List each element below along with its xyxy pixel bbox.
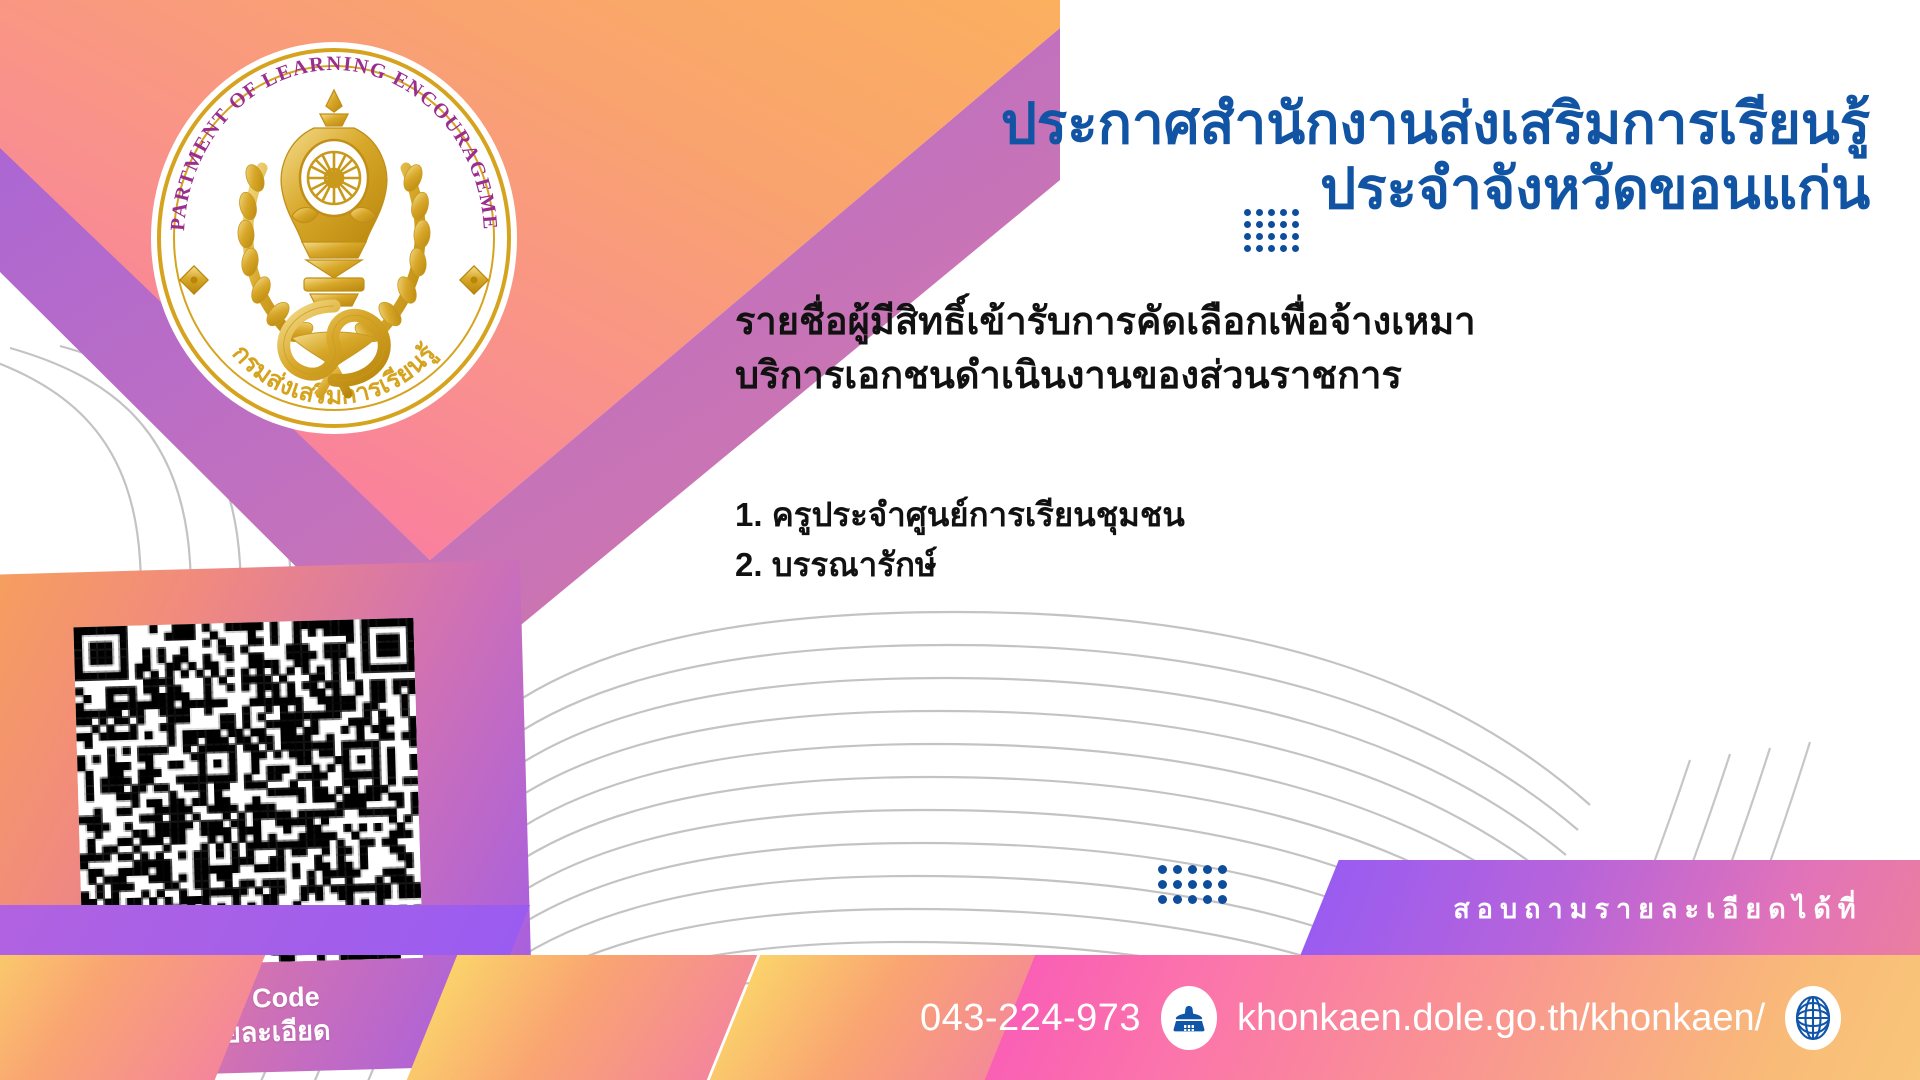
subheadline-line-2: บริการเอกชนดำเนินงานของส่วนราชการ <box>735 350 1865 404</box>
footer-contact-row: 043-224-973 khonkaen.dole.go.th/khonkaen… <box>920 974 1910 1062</box>
website-url[interactable]: khonkaen.dole.go.th/khonkaen/ <box>1237 997 1765 1040</box>
bottom-strip-purple <box>0 905 530 955</box>
phone-number[interactable]: 043-224-973 <box>920 997 1141 1040</box>
contact-ribbon-label: สอบถามรายละเอียดได้ที่ <box>1358 860 1920 956</box>
telephone-icon <box>1161 986 1217 1050</box>
list-item: 1. ครูประจำศูนย์การเรียนชุมชน <box>735 490 1865 540</box>
headline-line-2-row: ประจำจังหวัดขอนแก่น <box>740 157 1870 222</box>
globe-icon <box>1785 986 1841 1050</box>
subheadline-block: รายชื่อผู้มีสิทธิ์เข้ารับการคัดเลือกเพื่… <box>735 296 1865 404</box>
bottom-strip-yellow-2 <box>407 955 758 1080</box>
headline-line-1: ประกาศสำนักงานส่งเสริมการเรียนรู้ <box>740 92 1870 157</box>
dot-grid-icon-lower <box>1158 861 1233 906</box>
headline-line-2: ประจำจังหวัดขอนแก่น <box>1320 157 1870 222</box>
list-item: 2. บรรณารักษ์ <box>735 540 1865 590</box>
agency-logo: DEPARTMENT OF LEARNING ENCOURAGEMENT กรม… <box>142 38 526 438</box>
headline-block: ประกาศสำนักงานส่งเสริมการเรียนรู้ ประจำจ… <box>740 92 1870 222</box>
position-list: 1. ครูประจำศูนย์การเรียนชุมชน 2. บรรณารั… <box>735 490 1865 589</box>
subheadline-line-1: รายชื่อผู้มีสิทธิ์เข้ารับการคัดเลือกเพื่… <box>735 296 1865 350</box>
dot-grid-icon <box>1244 165 1304 213</box>
poster-canvas: DEPARTMENT OF LEARNING ENCOURAGEMENT กรม… <box>0 0 1920 1080</box>
